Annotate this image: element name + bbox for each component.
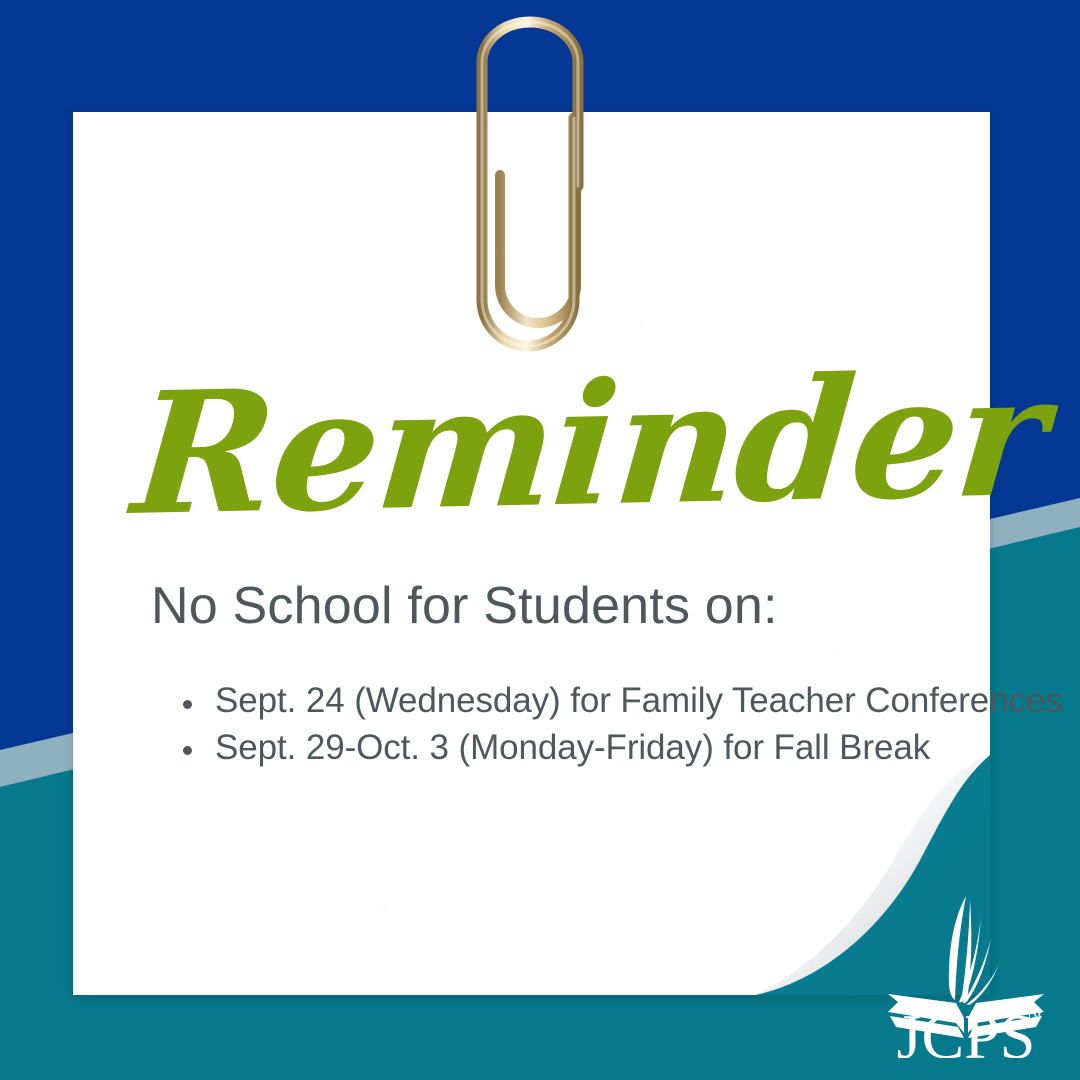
jcps-logo: JCPS ™: [886, 890, 1046, 1058]
no-school-dates-list: Sept. 24 (Wednesday) for Family Teacher …: [181, 678, 990, 771]
note-content: Reminder No School for Students on: Sept…: [73, 112, 990, 771]
list-item: Sept. 29-Oct. 3 (Monday-Friday) for Fall…: [181, 725, 990, 772]
trademark-symbol: ™: [1026, 1010, 1042, 1027]
page-title: Reminder: [128, 352, 999, 538]
subtitle: No School for Students on:: [151, 576, 990, 636]
list-item: Sept. 24 (Wednesday) for Family Teacher …: [181, 678, 990, 725]
jcps-wordmark: JCPS: [897, 1001, 1036, 1058]
